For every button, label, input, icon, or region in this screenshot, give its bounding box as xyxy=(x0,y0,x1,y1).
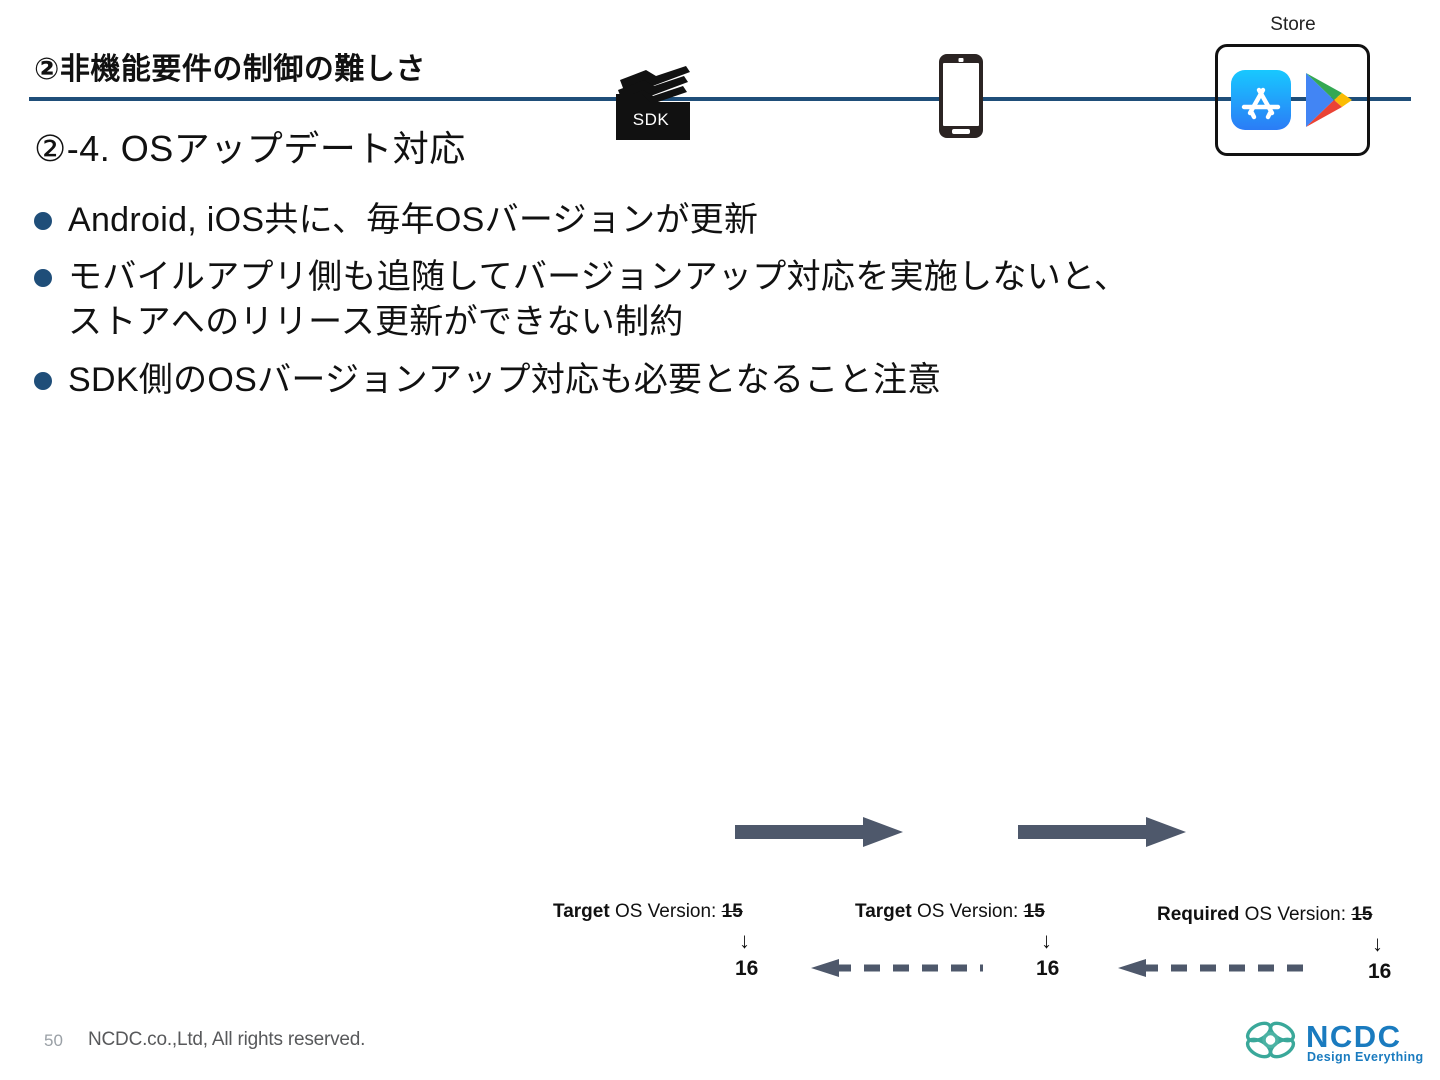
page-number: 50 xyxy=(44,1031,63,1051)
list-item: モバイルアプリ側も追随してバージョンアップ対応を実施しないと、 ストアへのリリー… xyxy=(34,255,1424,345)
app-store-icon xyxy=(1230,69,1292,131)
list-item: Android, iOS共に、毎年OSバージョンが更新 xyxy=(34,198,1424,243)
phone-version-caption: Target OS Version: 15 xyxy=(855,901,1045,923)
bullet-list: Android, iOS共に、毎年OSバージョンが更新 モバイルアプリ側も追随し… xyxy=(34,198,1424,415)
store-version-down-arrow-icon: ↓ xyxy=(1372,931,1383,957)
app-store-box xyxy=(1215,44,1370,156)
store-version-caption: Required OS Version: 15 xyxy=(1157,904,1372,926)
ncdc-logo-icon: NCDC Design Everything xyxy=(1238,1016,1424,1066)
sdk-folder-icon: SDK xyxy=(612,58,702,144)
store-version-label: Required xyxy=(1157,904,1239,925)
sdk-version-caption: Target OS Version: 15 xyxy=(553,901,743,923)
bullet-text: Android, iOS共に、毎年OSバージョンが更新 xyxy=(68,198,758,243)
list-item: SDK側のOSバージョンアップ対応も必要となること注意 xyxy=(34,358,1424,403)
page-title: ②非機能要件の制御の難しさ xyxy=(34,44,426,88)
store-new-version: 16 xyxy=(1368,960,1391,984)
bullet-line-2: ストアへのリリース更新ができない制約 xyxy=(68,300,1128,345)
copyright-text: NCDC.co.,Ltd, All rights reserved. xyxy=(88,1029,365,1051)
sdk-version-text: OS Version: xyxy=(610,901,722,922)
ncdc-logo: NCDC Design Everything xyxy=(1238,1016,1424,1066)
bullet-text: モバイルアプリ側も追随してバージョンアップ対応を実施しないと、 ストアへのリリー… xyxy=(68,255,1128,345)
sdk-old-version: 15 xyxy=(722,901,743,922)
bullet-dot-icon xyxy=(34,269,52,287)
phone-version-down-arrow-icon: ↓ xyxy=(1041,928,1052,954)
phone-old-version: 15 xyxy=(1024,901,1045,922)
phone-home-button-icon xyxy=(952,129,970,134)
phone-version-text: OS Version: xyxy=(912,901,1024,922)
store-label: Store xyxy=(1270,14,1315,36)
sdk-version-down-arrow-icon: ↓ xyxy=(739,928,750,954)
header-divider xyxy=(29,97,1411,101)
google-play-icon xyxy=(1298,69,1356,131)
dashed-arrow-phone-to-sdk-icon xyxy=(805,957,985,979)
sdk-label: SDK xyxy=(612,110,690,130)
sdk-new-version: 16 xyxy=(735,957,758,981)
bullet-line-1: モバイルアプリ側も追随してバージョンアップ対応を実施しないと、 xyxy=(68,258,1128,296)
sdk-version-label: Target xyxy=(553,901,610,922)
svg-text:Design Everything: Design Everything xyxy=(1307,1050,1424,1064)
bullet-text: SDK側のOSバージョンアップ対応も必要となること注意 xyxy=(68,358,941,403)
bullet-dot-icon xyxy=(34,212,52,230)
bullet-line-1: SDK側のOSバージョンアップ対応も必要となること注意 xyxy=(68,361,941,399)
dashed-arrow-store-to-phone-icon xyxy=(1112,957,1317,979)
svg-text:NCDC: NCDC xyxy=(1306,1019,1402,1054)
slide-body: ②-4. OSアップデート対応 Android, iOS共に、毎年OSバージョン… xyxy=(0,104,1440,1004)
section-subtitle: ②-4. OSアップデート対応 xyxy=(34,120,466,172)
mobile-phone-icon xyxy=(939,54,983,138)
phone-camera-icon xyxy=(959,58,964,62)
phone-version-label: Target xyxy=(855,901,912,922)
store-version-text: OS Version: xyxy=(1239,904,1351,925)
arrow-sdk-to-phone-icon xyxy=(735,815,905,849)
phone-new-version: 16 xyxy=(1036,957,1059,981)
bullet-dot-icon xyxy=(34,372,52,390)
store-old-version: 15 xyxy=(1351,904,1372,925)
phone-screen xyxy=(943,63,979,126)
arrow-phone-to-store-icon xyxy=(1018,815,1188,849)
bullet-line-1: Android, iOS共に、毎年OSバージョンが更新 xyxy=(68,201,758,239)
